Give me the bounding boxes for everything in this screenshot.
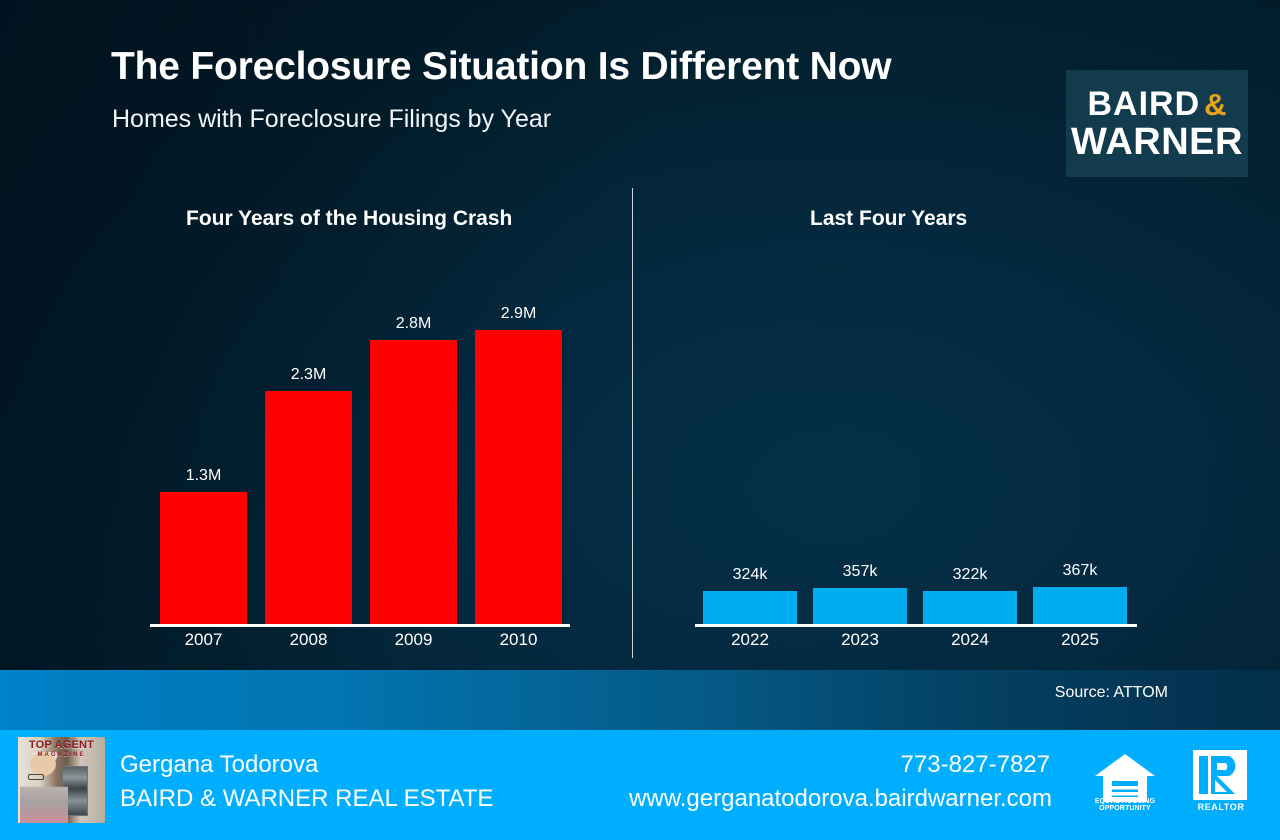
right-chart-heading: Last Four Years — [810, 207, 967, 231]
photo-glasses-detail — [28, 774, 45, 780]
left-bar-group: 1.3M2.3M2.8M2.9M — [160, 305, 562, 624]
panel-divider — [632, 188, 633, 658]
right-plot-area: 324k357k322k367k — [695, 270, 1145, 627]
bar — [265, 391, 352, 624]
agent-company: BAIRD & WARNER REAL ESTATE — [120, 785, 493, 813]
agent-photo: TOP AGENT MAGAZINE — [18, 737, 105, 823]
bar-column: 1.3M — [160, 467, 247, 624]
bar-value-label: 367k — [1063, 562, 1098, 580]
left-plot-area: 1.3M2.3M2.8M2.9M — [150, 270, 580, 627]
bar-column: 2.3M — [265, 366, 352, 624]
left-axis-ticks: 2007200820092010 — [160, 630, 562, 650]
housing-crash-bar-chart: 1.3M2.3M2.8M2.9M 2007200820092010 — [150, 270, 580, 660]
bar-value-label: 322k — [953, 566, 988, 584]
bar — [703, 591, 797, 624]
axis-tick-label: 2024 — [923, 630, 1017, 650]
logo-text-baird: BAIRD — [1087, 87, 1200, 121]
bar — [923, 591, 1017, 624]
logo-ampersand-icon: & — [1204, 89, 1226, 120]
bar-column: 2.9M — [475, 305, 562, 624]
bar — [1033, 587, 1127, 624]
baird-warner-logo: BAIRD & WARNER — [1066, 70, 1248, 177]
page-subtitle: Homes with Foreclosure Filings by Year — [112, 105, 551, 134]
page-title: The Foreclosure Situation Is Different N… — [111, 45, 891, 89]
bar — [370, 340, 457, 624]
right-axis-line — [695, 624, 1137, 627]
realtor-label: REALTOR — [1186, 802, 1256, 812]
bar-column: 324k — [703, 566, 797, 624]
bar-value-label: 2.3M — [291, 366, 327, 384]
axis-tick-label: 2022 — [703, 630, 797, 650]
bar-value-label: 2.8M — [396, 315, 432, 333]
bar — [160, 492, 247, 624]
infographic-page: The Foreclosure Situation Is Different N… — [0, 0, 1280, 840]
axis-tick-label: 2010 — [475, 630, 562, 650]
agent-name: Gergana Todorova — [120, 751, 318, 779]
axis-tick-label: 2008 — [265, 630, 352, 650]
photo-portrait — [20, 752, 69, 823]
axis-tick-label: 2009 — [370, 630, 457, 650]
agent-website-link[interactable]: www.gerganatodorova.bairdwarner.com — [629, 785, 1052, 813]
bar-column: 2.8M — [370, 315, 457, 624]
left-axis-line — [150, 624, 570, 627]
axis-tick-label: 2007 — [160, 630, 247, 650]
right-axis-ticks: 2022202320242025 — [703, 630, 1127, 650]
bar-column: 367k — [1033, 562, 1127, 624]
logo-top-row: BAIRD & — [1087, 87, 1226, 121]
top-agent-magazine-badge: TOP AGENT MAGAZINE — [23, 740, 100, 758]
bar — [813, 588, 907, 624]
realtor-icon — [1193, 750, 1247, 800]
right-bar-group: 324k357k322k367k — [703, 562, 1127, 624]
axis-tick-label: 2023 — [813, 630, 907, 650]
last-four-years-bar-chart: 324k357k322k367k 2022202320242025 — [695, 270, 1145, 660]
badge-subtitle: MAGAZINE — [23, 752, 100, 758]
equal-housing-label: EQUAL HOUSING OPPORTUNITY — [1088, 798, 1162, 813]
eho-label-line1: EQUAL HOUSING — [1088, 798, 1162, 805]
agent-phone[interactable]: 773-827-7827 — [901, 751, 1050, 779]
bar-value-label: 2.9M — [501, 305, 537, 323]
axis-tick-label: 2025 — [1033, 630, 1127, 650]
eho-label-line2: OPPORTUNITY — [1088, 805, 1162, 812]
bar-column: 322k — [923, 566, 1017, 624]
bar — [475, 330, 562, 624]
logo-text-warner: WARNER — [1071, 123, 1243, 161]
bar-value-label: 324k — [733, 566, 768, 584]
left-chart-heading: Four Years of the Housing Crash — [186, 207, 512, 231]
bar-column: 357k — [813, 563, 907, 624]
bar-value-label: 1.3M — [186, 467, 222, 485]
badge-title: TOP AGENT — [23, 740, 100, 751]
source-text: Source: ATTOM — [1055, 684, 1168, 702]
bar-value-label: 357k — [843, 563, 878, 581]
